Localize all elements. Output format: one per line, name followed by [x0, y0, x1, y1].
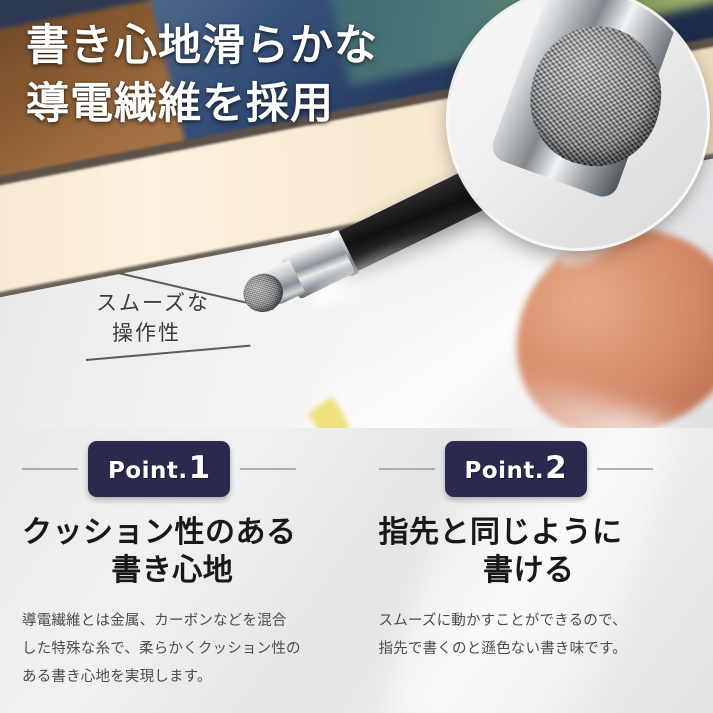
point-2-body: スムーズに動かすことができるので、 指先で書くのと遜色ない書き味です。: [379, 607, 704, 664]
point-column-1: Point. 1 クッション性のある 書き心地 導電繊維とは金属、カーボンなどを…: [0, 428, 357, 692]
point-2-heading-line2: 書ける: [379, 552, 704, 590]
point-2-rule-right: [597, 468, 653, 470]
headline-line1: 書き心地滑らかな: [26, 18, 378, 76]
point-1-badge-label: Point.: [108, 458, 188, 484]
point-2-badge-label: Point.: [465, 458, 545, 484]
point-column-2: Point. 2 指先と同じように 書ける スムーズに動かすことができるので、 …: [357, 428, 713, 692]
headline: 書き心地滑らかな 導電繊維を採用: [26, 18, 378, 133]
zoom-inset-circle: [449, 0, 707, 248]
point-2-badge-number: 2: [545, 450, 567, 486]
callout-text-line1: スムーズな: [96, 291, 210, 315]
point-2-badge: Point. 2: [445, 441, 587, 497]
point-2-body-line2: 指先で書くのと遜色ない書き味です。: [379, 635, 704, 663]
point-1-body-line2: した特殊な糸で、柔らかくクッション性の: [22, 635, 347, 663]
point-2-badge-row: Point. 2: [379, 438, 704, 500]
product-ad-banner: スムーズな 操作性 書き心地滑らかな 導電繊維を採用: [0, 0, 713, 713]
point-1-body-line1: 導電繊維とは金属、カーボンなどを混合: [22, 607, 347, 635]
point-1-heading: クッション性のある 書き心地: [22, 514, 347, 591]
point-2-heading: 指先と同じように 書ける: [379, 514, 704, 591]
point-2-rule-left: [379, 468, 435, 470]
point-1-rule-left: [22, 468, 78, 470]
point-1-badge: Point. 1: [88, 441, 230, 497]
headline-line2: 導電繊維を採用: [26, 76, 378, 134]
point-1-body-line3: ある書き心地を実現します。: [22, 663, 347, 691]
point-1-rule-right: [240, 468, 296, 470]
hero-photo: スムーズな 操作性 書き心地滑らかな 導電繊維を採用: [0, 0, 713, 437]
point-2-body-line1: スムーズに動かすことができるので、: [379, 607, 704, 635]
point-1-body: 導電繊維とは金属、カーボンなどを混合 した特殊な糸で、柔らかくクッション性の あ…: [22, 607, 347, 692]
callout-text-line2: 操作性: [112, 318, 286, 348]
points-panel: Point. 1 クッション性のある 書き心地 導電繊維とは金属、カーボンなどを…: [0, 428, 713, 713]
point-1-badge-number: 1: [189, 450, 211, 486]
point-2-heading-line1: 指先と同じように: [379, 515, 623, 550]
point-1-heading-line2: 書き心地: [22, 552, 347, 590]
point-1-badge-row: Point. 1: [22, 438, 347, 500]
point-1-heading-line1: クッション性のある: [22, 515, 297, 550]
points-columns: Point. 1 クッション性のある 書き心地 導電繊維とは金属、カーボンなどを…: [0, 428, 713, 692]
